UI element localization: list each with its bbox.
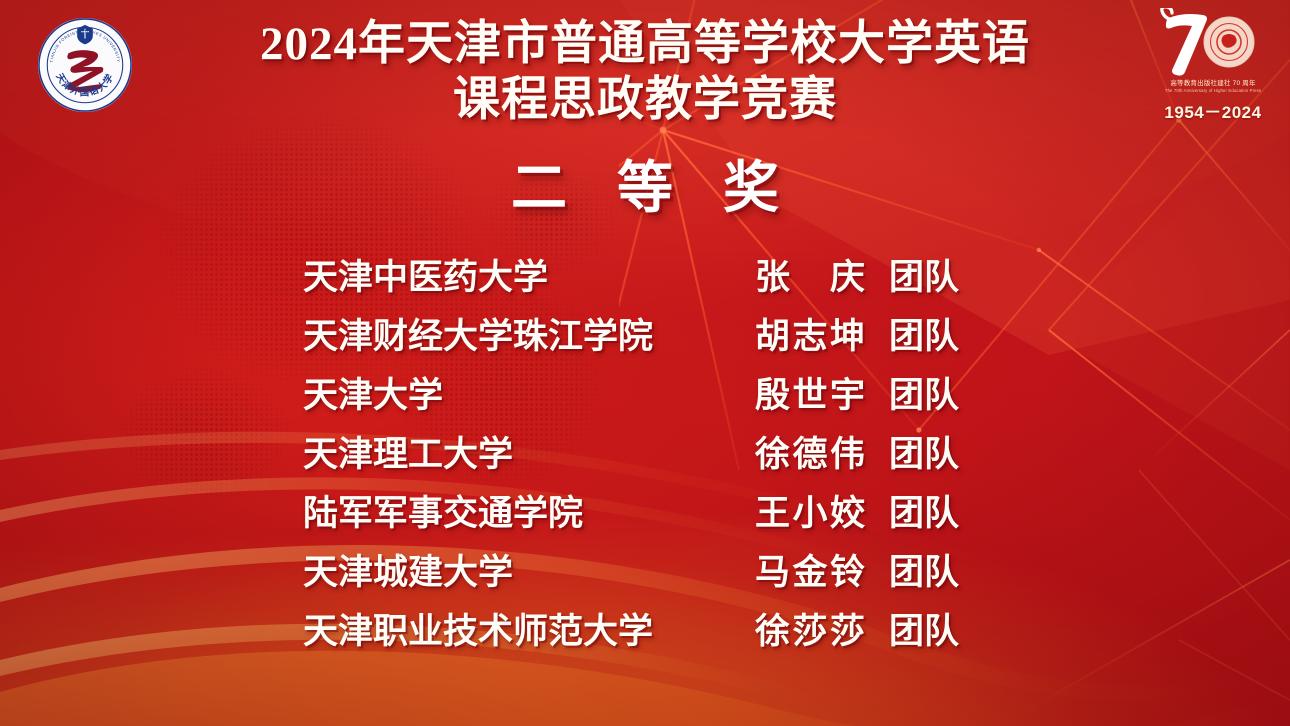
winner-team: 团队 [889, 492, 959, 536]
winner-person: 张 庆 [755, 256, 865, 300]
winner-row: 天津财经大学珠江学院 胡志坤 团队 [0, 315, 1290, 374]
winner-row: 天津城建大学 马金铃 团队 [0, 551, 1290, 610]
winner-person: 胡志坤 [755, 315, 865, 359]
winner-row: 天津理工大学 徐德伟 团队 [0, 433, 1290, 492]
winner-person: 王小姣 [755, 492, 865, 536]
winner-school: 天津中医药大学 [303, 256, 548, 300]
award-slide: 1981 TIANJIN FOREIGN STUDIES UNIVERSITY … [0, 0, 1290, 726]
winner-school: 天津职业技术师范大学 [303, 610, 653, 654]
page-title: 2024年天津市普通高等学校大学英语 课程思政教学竞赛 [0, 16, 1290, 128]
winner-team: 团队 [889, 433, 959, 477]
winner-team: 团队 [889, 256, 959, 300]
winner-row: 天津职业技术师范大学 徐莎莎 团队 [0, 610, 1290, 669]
winner-person: 徐德伟 [755, 433, 865, 477]
winner-school: 陆军军事交通学院 [303, 492, 583, 536]
title-line-2: 课程思政教学竞赛 [0, 72, 1290, 128]
winner-team: 团队 [889, 551, 959, 595]
winner-row: 陆军军事交通学院 王小姣 团队 [0, 492, 1290, 551]
winner-school: 天津财经大学珠江学院 [303, 315, 653, 359]
award-label: 二 等 奖 [0, 155, 1290, 223]
winner-team: 团队 [889, 610, 959, 654]
winner-row: 天津大学 殷世宇 团队 [0, 374, 1290, 433]
winner-team: 团队 [889, 315, 959, 359]
winner-school: 天津大学 [303, 374, 443, 418]
winner-person: 徐莎莎 [755, 610, 865, 654]
winner-row: 天津中医药大学 张 庆 团队 [0, 256, 1290, 315]
winner-list: 天津中医药大学 张 庆 团队 天津财经大学珠江学院 胡志坤 团队 天津大学 殷世… [0, 256, 1290, 669]
winner-person: 殷世宇 [755, 374, 865, 418]
winner-school: 天津理工大学 [303, 433, 513, 477]
winner-person: 马金铃 [755, 551, 865, 595]
title-line-1: 2024年天津市普通高等学校大学英语 [0, 16, 1290, 72]
winner-school: 天津城建大学 [303, 551, 513, 595]
winner-team: 团队 [889, 374, 959, 418]
